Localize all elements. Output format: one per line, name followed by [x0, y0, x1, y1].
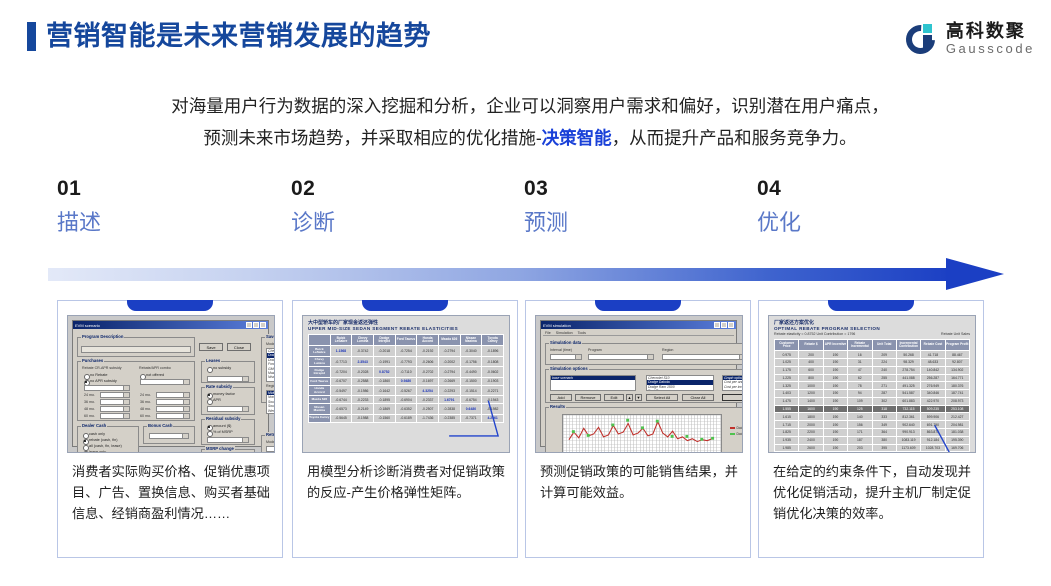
radio-no-subsidy[interactable]: no subsidy	[207, 366, 231, 370]
retrieve-model-dropdown[interactable]	[266, 446, 275, 452]
table-row: 1.7152000190156349902.640691.790204.981	[775, 421, 970, 429]
menu-tools[interactable]: Tools	[578, 331, 586, 335]
rebate-cell-4-7: 180.376	[945, 382, 969, 390]
series-sim-line	[569, 422, 712, 442]
matrix-cell-7-6: -0.7371	[460, 414, 482, 422]
rebate-cell-11-0: 1.935	[775, 436, 799, 444]
rebate-cell-6-6: 422.970	[921, 397, 945, 405]
rebate-cell-0-6: 41.718	[921, 351, 945, 359]
rebate-cell-1-3: 31	[848, 358, 872, 366]
legend-label-actual: Dodge Dakota actual	[737, 432, 744, 436]
rebate-cell-4-0: 1.325	[775, 382, 799, 390]
interval-dropdown[interactable]	[550, 354, 582, 360]
rebate-cell-6-1: 1400	[799, 397, 823, 405]
group-label-simulation-options: Simulation options	[549, 366, 589, 371]
sim-clear-all-button[interactable]: Clear All	[682, 394, 714, 401]
matrix-cell-2-7: -0.0602	[482, 367, 504, 378]
model-select-listbox[interactable]: Chevrolet S10 Dodge Dakota Dodge Ram 150…	[646, 375, 714, 391]
scenario-item-0[interactable]: base scenario	[551, 376, 635, 380]
card-01-screenshot: EVM scenario Program Description Save Cl…	[67, 315, 275, 453]
term-24mo-input[interactable]	[100, 392, 130, 398]
table-row: Nissan Maxima-0.6573-0.2149-0.1869-0.635…	[309, 404, 504, 415]
matrix-cell-0-0: 1.1568	[330, 346, 352, 357]
rebate-col-head-2: APR Incentive	[823, 340, 847, 351]
group-label-purchases: Purchases	[81, 358, 104, 363]
rate-subsidy-input[interactable]	[207, 406, 249, 412]
residual-subsidy-input[interactable]	[207, 437, 249, 443]
move-down-icon[interactable]: ▼	[635, 394, 642, 401]
matrix-cell-5-5: 1.6791	[438, 396, 460, 404]
table-row: 2.08528001902184111265.7551161.617113.18…	[775, 452, 970, 453]
combo-36mo-input[interactable]	[156, 399, 190, 405]
rebate-cell-4-3: 78	[848, 382, 872, 390]
matrix-cell-4-3: -0.5267	[395, 385, 417, 396]
radio-cash-only[interactable]: cash only	[83, 432, 105, 436]
matrix-cell-3-5: -0.2669	[438, 377, 460, 385]
matrix-row-head-3: Ford Taurus	[309, 377, 331, 385]
simulation-chart	[562, 414, 722, 453]
slide-root: 营销智能是未来营销发展的趋势 高科数聚 Gausscode 对海量用户行为数据的…	[0, 0, 1051, 586]
rebate-cell-5-7: 187.741	[945, 390, 969, 398]
rebate-cell-3-5: 441.088	[896, 374, 920, 382]
menu-file[interactable]: File	[545, 331, 551, 335]
label-rebate-apr-combo: Rebate/APR combo	[139, 366, 171, 370]
table-row: Chevy Lumina-0.77132.3543-0.1991-0.7793-…	[309, 356, 504, 367]
rebate-cell-1-0: 1.025	[775, 358, 799, 366]
matrix-cell-3-0: -0.6707	[330, 377, 352, 385]
matrix-cell-4-1: -0.1986	[352, 385, 374, 396]
matrix-corner-cell	[309, 335, 331, 346]
label-region: Region	[662, 348, 673, 352]
rebate-cell-0-7: 88.467	[945, 351, 969, 359]
rebate-cell-7-0: 1.555	[775, 405, 799, 413]
matrix-cell-0-7: -0.1896	[482, 346, 504, 357]
matrix-cell-4-0: -0.5497	[330, 385, 352, 396]
rebate-cell-8-5: 812.361	[896, 413, 920, 421]
radio-residual-amount[interactable]: amount ($)	[207, 424, 231, 428]
rebate-cell-5-0: 1.403	[775, 390, 799, 398]
progress-arrow	[48, 262, 1008, 288]
graph-button[interactable]: Graph	[722, 394, 743, 401]
elasticity-matrix-table: Buick LeSabreChevy LuminaDodge IntrepidF…	[308, 334, 504, 423]
simulation-body: Simulation data Interval (time) Program …	[543, 338, 734, 444]
lead-line-1-text: 对海量用户行为数据的深入挖掘和分析，企业可以洞察用户需求和偏好，识别潜在用户痛点…	[171, 96, 889, 116]
rebate-cell-10-7: 181.038	[945, 429, 969, 437]
rebate-cell-8-6: 599.906	[921, 413, 945, 421]
group-label-save-incentives: Save incentives	[265, 334, 275, 339]
rebate-cell-1-2: 190	[823, 358, 847, 366]
move-up-icon[interactable]: ▲	[626, 394, 633, 401]
table-row: 1.6151800190140333812.361599.906212.427	[775, 413, 970, 421]
table-row: 1.98526001902033951173.6091028.703169.70…	[775, 444, 970, 452]
matrix-cell-1-2: -0.1991	[373, 356, 395, 367]
matrix-row-head-4: Honda Accord	[309, 385, 331, 396]
rebate-cell-2-5: 278.754	[896, 366, 920, 374]
rebate-cell-3-1: 800	[799, 374, 823, 382]
rebate-cell-1-6: 48.633	[921, 358, 945, 366]
step-01-label: 描述	[57, 206, 257, 240]
label-rebate-apr-subsidy: Rebate CR-APR subsidy	[82, 366, 122, 370]
group-purchases: Purchases Rebate CR-APR subsidy Rebate/A…	[77, 361, 195, 421]
model-item-6[interactable]: Nissan Frontier	[267, 375, 275, 379]
rebate-subtitle-row: Rebate elasticity = 0.8752 Unit Contribu…	[774, 332, 970, 337]
group-rate-subsidy: Rate subsidy money factor APR	[201, 387, 255, 415]
card-04-optimize[interactable]: 厂家返还方案优化 OPTIMAL REBATE PROGRAM SELECTIO…	[758, 300, 984, 558]
model-item-3[interactable]: Ford Ranger	[267, 362, 275, 366]
series-actual-points	[572, 419, 714, 441]
matrix-col-head-3: Ford Taurus	[395, 335, 417, 346]
rebate-cell-9-3: 156	[848, 421, 872, 429]
matrix-cell-2-3: -0.7110	[395, 367, 417, 378]
matrix-cell-2-4: -0.2702	[417, 367, 439, 378]
matrix-row-head-2: Dodge Intrepid	[309, 367, 331, 378]
model-listbox[interactable]: Chevrolet S10 Dodge Dakota Dodge Ram 150…	[266, 348, 275, 382]
group-bonus-cash: Bonus Cash	[143, 426, 195, 444]
matrix-cell-6-3: -0.6352	[395, 404, 417, 415]
add-button[interactable]: Add	[550, 394, 572, 401]
radio-all-cash-fin-lease[interactable]: all (cash, fin, lease)	[83, 444, 122, 448]
matrix-cell-7-4: -1.7436	[417, 414, 439, 422]
step-number-row: 01 描述 02 诊断 03 预测 04 优化	[0, 176, 1051, 256]
simulation-titlebar: EVM simulation	[541, 321, 736, 329]
label-interval: Interval (time)	[550, 348, 572, 352]
rebate-cell-12-1: 2600	[799, 444, 823, 452]
arrow-bar-shape	[48, 268, 953, 281]
matrix-cell-7-2: -0.1560	[373, 414, 395, 422]
rebate-cell-7-3: 125	[848, 405, 872, 413]
rebate-cell-11-6: 912.184	[921, 436, 945, 444]
rebate-cell-3-0: 1.225	[775, 374, 799, 382]
sim-select-all-button[interactable]: Select All	[646, 394, 678, 401]
matrix-cell-2-2: 0.8752	[373, 367, 395, 378]
card-04-screenshot: 厂家返还方案优化 OPTIMAL REBATE PROGRAM SELECTIO…	[768, 315, 976, 453]
matrix-cell-7-7: 4.2561	[482, 414, 504, 422]
rebate-cell-5-1: 1200	[799, 390, 823, 398]
card-02-tab	[362, 300, 448, 311]
card-04-caption: 在给定的约束条件下，自动发现并优化促销活动，提升主机厂制定促销优化决策的效率。	[773, 461, 971, 524]
step-item-03: 03 预测	[524, 176, 724, 240]
rebate-subtitle-right: Rebate Unit Sales	[941, 332, 970, 337]
matrix-cell-3-7: -0.1903	[482, 377, 504, 385]
table-row: Buick LeSabre1.1568-0.3742-0.2018-0.7254…	[309, 346, 504, 357]
rebate-col-head-7: Program Profit	[945, 340, 969, 351]
rebate-cell-10-5: 990.913	[896, 429, 920, 437]
rebate-cell-9-0: 1.715	[775, 421, 799, 429]
matrix-cell-4-7: -0.2271	[482, 385, 504, 396]
label-regions: Region(s)	[266, 384, 275, 388]
matrix-col-head-6: Nissan Maxima	[460, 335, 482, 346]
matrix-cell-3-6: -0.1500	[460, 377, 482, 385]
rebate-cell-13-1: 2800	[799, 452, 823, 453]
radio-no-apr-subsidy[interactable]: no APR subsidy	[84, 379, 117, 383]
rebate-cell-9-5: 902.640	[896, 421, 920, 429]
matrix-cell-0-5: -0.2794	[438, 346, 460, 357]
region-listbox[interactable]: Midwest Northeast Southeast Southwest We…	[266, 390, 275, 414]
label-combo-36mo: 36 mo.	[140, 400, 151, 404]
rebate-cell-3-4: 255	[872, 374, 896, 382]
rebate-cell-1-4: 224	[872, 358, 896, 366]
matrix-cell-4-5: -0.2293	[438, 385, 460, 396]
remove-button[interactable]: Remove	[575, 394, 601, 401]
radio-not-offered[interactable]: not offered	[140, 373, 164, 377]
arrow-head-icon	[946, 258, 1004, 290]
combo-60mo-input[interactable]	[156, 413, 190, 419]
rebate-cell-8-1: 1800	[799, 413, 823, 421]
rebate-cell-7-1: 1600	[799, 405, 823, 413]
group-label-simulation-data: Simulation data	[549, 340, 582, 345]
matrix-cell-1-3: -0.7793	[395, 356, 417, 367]
rebate-cell-11-2: 190	[823, 436, 847, 444]
rebate-cell-0-3: 16	[848, 351, 872, 359]
term-48mo-input[interactable]	[100, 406, 130, 412]
legend-label-sim: Dodge Dakota sim	[737, 426, 744, 430]
matrix-cell-1-4: -0.2606	[417, 356, 439, 367]
matrix-row-head-7: Toyota Camry	[309, 414, 331, 422]
rebate-selection-shot: 厂家返还方案优化 OPTIMAL REBATE PROGRAM SELECTIO…	[769, 316, 975, 452]
matrix-cell-2-0: -0.7204	[330, 367, 352, 378]
rebate-cell-2-7: 134.902	[945, 366, 969, 374]
matrix-cell-6-0: -0.6573	[330, 404, 352, 415]
sim-model-3[interactable]: Ford Ranger	[647, 389, 713, 391]
radio-no-rebate[interactable]: no Rebate	[84, 373, 108, 377]
term-60mo-input[interactable]	[100, 413, 130, 419]
rebate-cell-11-1: 2400	[799, 436, 823, 444]
rebate-cell-2-2: 190	[823, 366, 847, 374]
card-03-predict[interactable]: EVM simulation File Simulation Tools Sim…	[525, 300, 751, 558]
combo-48mo-input[interactable]	[156, 406, 190, 412]
radio-rebate-cash-fin[interactable]: rebate (cash, fin)	[83, 438, 118, 442]
scenario-listbox[interactable]: base scenario	[550, 375, 636, 391]
close-button[interactable]: Close	[227, 343, 251, 351]
company-logo: 高科数聚 Gausscode	[906, 18, 1035, 60]
rebate-cell-10-3: 171	[848, 429, 872, 437]
label-models: Model(s)	[266, 342, 275, 346]
logo-navy-square-icon	[923, 35, 932, 48]
label-36mo: 36 mo.	[84, 400, 95, 404]
group-label-retrieve-incentives: Retrieve incentives	[265, 432, 275, 437]
matrix-cell-4-4: 4.3254	[417, 385, 439, 396]
rebate-cell-6-7: 208.973	[945, 397, 969, 405]
group-label-residual-subsidy: Residual subsidy	[205, 416, 241, 421]
rebate-cell-7-6: 509.235	[921, 405, 945, 413]
matrix-cell-7-0: -0.5645	[330, 414, 352, 422]
step-item-02: 02 诊断	[291, 176, 491, 240]
form-window: EVM scenario Program Description Save Cl…	[72, 320, 269, 447]
menu-simulation[interactable]: Simulation	[556, 331, 573, 335]
lease-cash-input[interactable]	[207, 376, 249, 382]
matrix-cell-6-2: -0.1869	[373, 404, 395, 415]
group-leases: Leases no subsidy	[201, 361, 255, 383]
region-dropdown[interactable]	[662, 354, 743, 360]
rebate-cell-7-2: 190	[823, 405, 847, 413]
matrix-col-head-4: Honda Accord	[417, 335, 439, 346]
rebate-cell-0-0: 0.975	[775, 351, 799, 359]
step-02-number: 02	[291, 176, 491, 202]
matrix-cell-3-4: -0.1697	[417, 377, 439, 385]
table-row: 1.17560019047240278.754140.842134.902	[775, 366, 970, 374]
group-retrieve-incentives: Retrieve incentives Model Region Clear R…	[261, 435, 275, 453]
matrix-cell-5-1: -0.2233	[352, 396, 374, 404]
close-icon	[728, 322, 734, 328]
simulation-window: EVM simulation File Simulation Tools Sim…	[540, 320, 737, 447]
maximize-icon	[253, 322, 259, 328]
program-dropdown[interactable]	[588, 354, 654, 360]
step-01-number: 01	[57, 176, 257, 202]
matrix-cell-6-5: -0.2838	[438, 404, 460, 415]
group-label-msrp-change: MSRP change	[205, 446, 235, 451]
logo-text-block: 高科数聚 Gausscode	[946, 21, 1035, 57]
card-01-tab	[127, 300, 213, 311]
matrix-table-wrap: Buick LeSabreChevy LuminaDodge IntrepidF…	[308, 334, 504, 423]
card-02-screenshot: 大中型轿车的厂家现金返还弹性 UPPER MID-SIZE SEDAN SEGM…	[302, 315, 510, 453]
logo-teal-square-icon	[923, 24, 932, 33]
group-results: Results	[545, 407, 743, 453]
card-02-diagnose[interactable]: 大中型轿车的厂家现金返还弹性 UPPER MID-SIZE SEDAN SEGM…	[292, 300, 518, 558]
rebate-cell-5-3: 94	[848, 390, 872, 398]
matrix-cell-1-1: 2.3543	[352, 356, 374, 367]
step-02-label: 诊断	[291, 206, 491, 240]
slide-header: 营销智能是未来营销发展的趋势 高科数聚 Gausscode	[0, 0, 1051, 70]
label-combo-24mo: 24 mo.	[140, 393, 151, 397]
rebate-col-head-5: Incremental Contribution	[896, 340, 920, 351]
form-window-body: Program Description Save Close Purchases…	[75, 331, 266, 444]
card-01-caption: 消费者实际购买价格、促销优惠项目、广告、置换信息、购买者基础信息、经销商盈利情况…	[72, 461, 270, 524]
graph-options-listbox[interactable]: Graph options Cost per unit Cost per inc…	[722, 375, 743, 391]
rebate-subtitle-left: Rebate elasticity = 0.8752 Unit Contribu…	[774, 332, 855, 337]
matrix-col-head-2: Dodge Intrepid	[373, 335, 395, 346]
rebate-cell-0-4: 209	[872, 351, 896, 359]
rebate-cell-4-1: 1000	[799, 382, 823, 390]
label-combo-48mo: 48 mo.	[140, 407, 151, 411]
simulation-window-controls[interactable]	[714, 322, 734, 328]
card-row: EVM scenario Program Description Save Cl…	[0, 300, 1051, 562]
group-dealer-cash: Dealer Cash cash only rebate (cash, fin)…	[77, 426, 139, 453]
table-row: Dodge Intrepid-0.7204-0.20280.8752-0.711…	[309, 367, 504, 378]
rebate-cell-9-1: 2000	[799, 421, 823, 429]
rebate-cell-8-3: 140	[848, 413, 872, 421]
rebate-cell-5-6: 340.846	[921, 390, 945, 398]
bonus-cash-input[interactable]	[149, 433, 189, 439]
rebate-col-head-6: Rebate Cost	[921, 340, 945, 351]
matrix-cell-5-3: -0.6904	[395, 396, 417, 404]
label-60mo: 60 mo.	[84, 414, 95, 418]
rebate-cell-13-6: 1161.617	[921, 452, 945, 453]
table-row: Mazda 626-0.6744-0.2233-0.1895-0.6904-0.…	[309, 396, 504, 404]
group-msrp-change: MSRP change amount ($) % of MSRP	[201, 449, 255, 453]
group-residual-subsidy: Residual subsidy amount ($) % of MSRP	[201, 419, 255, 445]
matrix-cell-7-5: -0.2385	[438, 414, 460, 422]
rebate-cell-12-4: 395	[872, 444, 896, 452]
logo-name-cn: 高科数聚	[946, 21, 1035, 41]
window-title-text: EVM scenario	[75, 323, 100, 328]
step-04-label: 优化	[757, 206, 957, 240]
legend-item-sim: Dodge Dakota sim	[730, 426, 743, 430]
matrix-cell-2-6: -0.4490	[460, 367, 482, 378]
combo-24mo-input[interactable]	[156, 392, 190, 398]
matrix-cell-5-6: -0.6754	[460, 396, 482, 404]
rebate-cell-5-4: 287	[872, 390, 896, 398]
matrix-cell-6-6: 0.6480	[460, 404, 482, 415]
rebate-cell-9-7: 204.981	[945, 421, 969, 429]
card-01-describe[interactable]: EVM scenario Program Description Save Cl…	[57, 300, 283, 558]
rebate-cell-4-6: 276.949	[921, 382, 945, 390]
rebate-cell-8-4: 333	[872, 413, 896, 421]
rebate-col-head-0: Customer Price	[775, 340, 799, 351]
matrix-cell-0-6: -0.3040	[460, 346, 482, 357]
rebate-cell-2-6: 140.842	[921, 366, 945, 374]
matrix-cell-5-2: -0.1895	[373, 396, 395, 404]
rebate-cell-11-3: 187	[848, 436, 872, 444]
table-row: 1.93524001901873801083.119912.184195.390	[775, 436, 970, 444]
lead-line-2: 预测未来市场趋势，并采取相应的优化措施-决策智能，从而提升产品和服务竞争力。	[50, 122, 1010, 154]
term-36mo-input[interactable]	[100, 399, 130, 405]
simulation-menubar[interactable]: File Simulation Tools	[543, 331, 734, 336]
simulation-title-text: EVM simulation	[543, 323, 571, 328]
group-label-dealer-cash: Dealer Cash	[81, 423, 107, 428]
matrix-row-head-0: Buick LeSabre	[309, 346, 331, 357]
logo-name-en: Gausscode	[946, 41, 1035, 57]
matrix-cell-0-1: -0.3742	[352, 346, 374, 357]
lead-paragraph: 对海量用户行为数据的深入挖掘和分析，企业可以洞察用户需求和偏好，识别潜在用户痛点…	[50, 90, 1010, 154]
window-controls[interactable]	[246, 322, 266, 328]
region-item-3[interactable]: Southwest	[267, 404, 275, 408]
radio-apr[interactable]: APR	[207, 398, 221, 402]
matrix-cell-1-6: -0.1756	[460, 356, 482, 367]
rebate-cell-0-1: 200	[799, 351, 823, 359]
radio-lease-only[interactable]: lease only	[83, 450, 106, 453]
table-row: 1.5551600190125318732.115509.235253.108	[775, 405, 970, 413]
label-24mo: 24 mo.	[84, 393, 95, 397]
radio-money-factor[interactable]: money factor	[207, 392, 235, 396]
rebate-cell-13-3: 218	[848, 452, 872, 453]
card-03-tab	[595, 300, 681, 311]
rebate-cell-12-7: 169.706	[945, 444, 969, 452]
rebate-amount-dropdown[interactable]	[84, 385, 130, 391]
group-program-description: Program Description	[77, 337, 195, 357]
matrix-cell-6-4: -0.2507	[417, 404, 439, 415]
edit-button[interactable]: Edit	[604, 394, 624, 401]
chart-series	[563, 415, 721, 453]
rebate-cell-11-4: 380	[872, 436, 896, 444]
matrix-cell-1-5: -0.2002	[438, 356, 460, 367]
matrix-cell-4-6: -0.1514	[460, 385, 482, 396]
rebate-col-head-1: Rebate $	[799, 340, 823, 351]
matrix-cell-1-7: -0.1808	[482, 356, 504, 367]
region-item-4[interactable]: West	[267, 409, 275, 413]
table-row: 1.0254001903122498.32948.63392.807	[775, 358, 970, 366]
rebate-cell-10-2: 190	[823, 429, 847, 437]
matrix-row-head-6: Nissan Maxima	[309, 404, 331, 415]
program-description-input[interactable]	[81, 346, 191, 353]
save-button[interactable]: Save	[199, 343, 223, 351]
combo-dropdown[interactable]	[140, 379, 190, 385]
step-03-label: 预测	[524, 206, 724, 240]
card-02-caption: 用模型分析诊断消费者对促销政策的反应-产生价格弹性矩阵。	[307, 461, 505, 503]
legend-swatch-sim	[730, 427, 735, 430]
rebate-cell-9-4: 349	[872, 421, 896, 429]
matrix-row-head-1: Chevy Lumina	[309, 356, 331, 367]
rebate-cell-6-2: 190	[823, 397, 847, 405]
legend-swatch-actual	[730, 433, 735, 436]
rebate-cell-1-5: 98.329	[896, 358, 920, 366]
radio-residual-pct[interactable]: % of MSRP	[207, 430, 233, 434]
rebate-cell-4-4: 271	[872, 382, 896, 390]
group-label-leases: Leases	[205, 358, 221, 363]
rebate-cell-6-0: 1.475	[775, 397, 799, 405]
rebate-cell-11-7: 195.390	[945, 436, 969, 444]
card-03-caption: 预测促销政策的可能销售结果，并计算可能效益。	[540, 461, 738, 503]
graph-opt-2[interactable]: Cost per incremental unit	[723, 385, 743, 389]
